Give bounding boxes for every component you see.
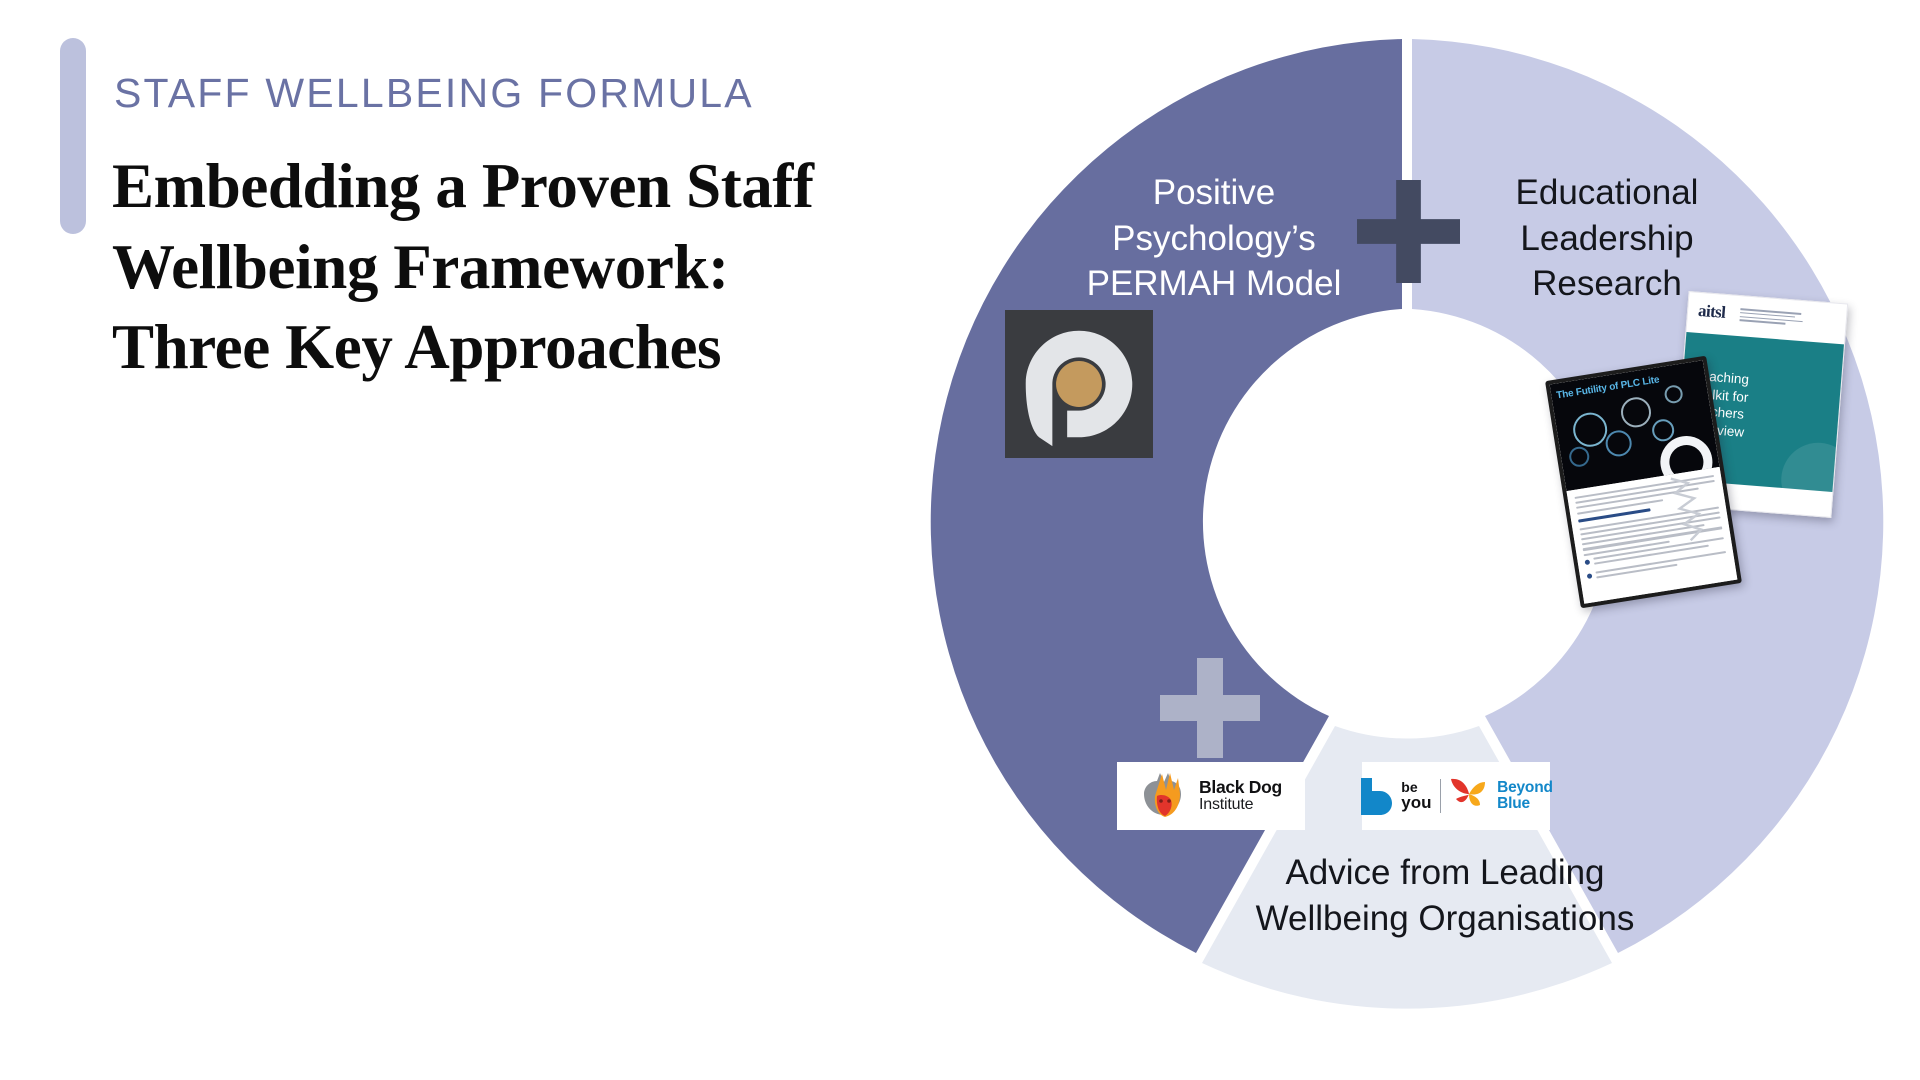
wellbeing-formula-donut-chart: Positive Psychology’s PERMAH Model Educa…: [907, 22, 1907, 1022]
page-title: Embedding a Proven Staff Wellbeing Frame…: [112, 146, 872, 388]
plus-bottom-left-glyph: [1160, 658, 1260, 758]
logo-card-black-dog-institute[interactable]: Black Dog Institute: [1117, 762, 1305, 830]
gear-icon: [1571, 410, 1610, 449]
beyond-blue-line2: Blue: [1497, 796, 1553, 812]
logo-divider: [1440, 779, 1442, 813]
black-dog-line2: Institute: [1199, 797, 1282, 813]
gear-icon: [1568, 445, 1591, 468]
segment-label-permah: Positive Psychology’s PERMAH Model: [1059, 170, 1369, 307]
plus-icon-top: [1357, 180, 1460, 283]
beyond-blue-butterfly-icon: [1449, 775, 1489, 818]
black-dog-institute-icon: [1140, 770, 1192, 822]
black-dog-line1: Black Dog: [1199, 779, 1282, 797]
research-documents-group: aitsl Coaching Toolkit for Teachers Over…: [1562, 297, 1882, 627]
be-you-b-icon: [1359, 776, 1393, 816]
beyond-blue-line1: Beyond: [1497, 780, 1553, 796]
gear-icon: [1604, 429, 1634, 459]
segment-label-advice: Advice from Leading Wellbeing Organisati…: [1245, 850, 1645, 941]
squiggle-decoration-icon: [1663, 470, 1728, 550]
segment-label-education: Educational Leadership Research: [1452, 170, 1762, 307]
accent-bar: [60, 38, 86, 234]
gear-icon: [1619, 395, 1653, 429]
plc-article-title: The Futility of PLC Lite: [1556, 374, 1661, 401]
be-you-line2: you: [1401, 795, 1431, 811]
slide-canvas: STAFF WELLBEING FORMULA Embedding a Prov…: [0, 0, 1920, 1080]
aitsl-decorative-circle: [1778, 440, 1843, 492]
logo-card-be-you-beyond-blue[interactable]: be you Beyond Blue: [1362, 762, 1550, 830]
gear-icon: [1663, 384, 1684, 405]
plc-article-body: [1566, 467, 1742, 608]
plus-top-glyph: [1357, 180, 1460, 283]
permah-logo-icon: [1005, 310, 1153, 458]
permah-logo-tile[interactable]: [1005, 310, 1153, 458]
plus-icon-bottom-left: [1160, 658, 1260, 758]
eyebrow-label: STAFF WELLBEING FORMULA: [114, 70, 754, 117]
